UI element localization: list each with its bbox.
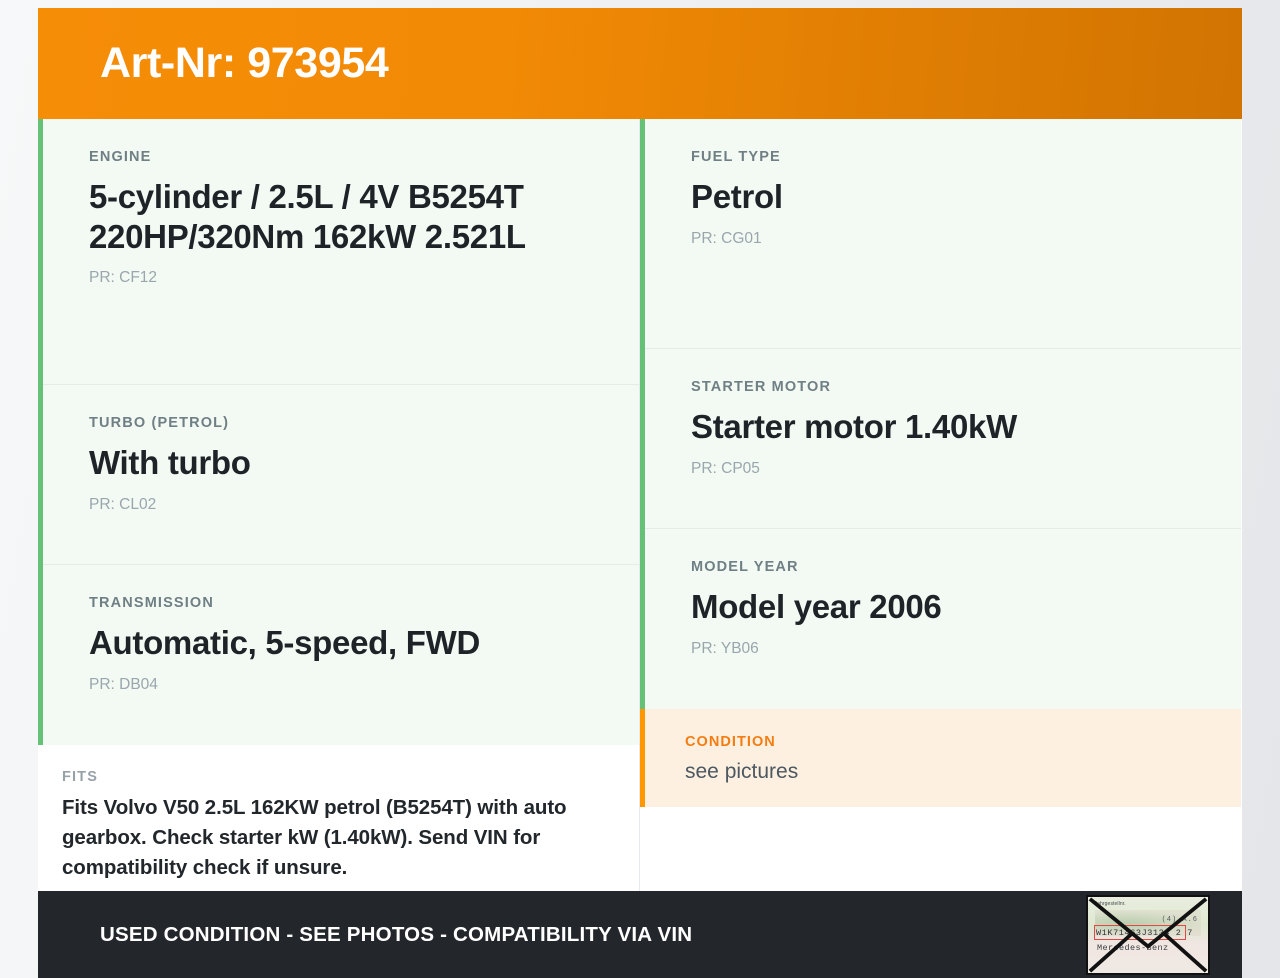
spec-value-turbo: With turbo bbox=[89, 443, 593, 482]
spec-value-engine: 5-cylinder / 2.5L / 4V B5254T 220HP/320N… bbox=[89, 177, 593, 256]
spec-block-starter-motor: STARTER MOTOR Starter motor 1.40kW PR: C… bbox=[645, 349, 1241, 529]
spec-value-model-year: Model year 2006 bbox=[691, 587, 1195, 626]
spec-value-transmission: Automatic, 5-speed, FWD bbox=[89, 623, 593, 662]
condition-block: CONDITION see pictures bbox=[640, 709, 1241, 807]
spec-label-model-year: MODEL YEAR bbox=[691, 559, 1195, 576]
envelope-icon bbox=[1088, 897, 1208, 973]
left-column: ENGINE 5-cylinder / 2.5L / 4V B5254T 220… bbox=[38, 119, 640, 891]
spec-label-fuel-type: FUEL TYPE bbox=[691, 149, 1195, 166]
spec-block-fuel-type: FUEL TYPE Petrol PR: CG01 bbox=[645, 119, 1241, 349]
spec-value-fuel-type: Petrol bbox=[691, 177, 1195, 216]
page-root: Art-Nr: 973954 ENGINE 5-cylinder / 2.5L … bbox=[0, 0, 1280, 978]
footer-bar: USED CONDITION - SEE PHOTOS - COMPATIBIL… bbox=[38, 891, 1242, 978]
spec-value-starter-motor: Starter motor 1.40kW bbox=[691, 407, 1195, 446]
spec-pr-fuel-type: PR: CG01 bbox=[691, 230, 1195, 249]
condition-value: see pictures bbox=[685, 759, 1195, 784]
page-title: Art-Nr: 973954 bbox=[38, 42, 388, 85]
fits-block: FITS Fits Volvo V50 2.5L 162KW petrol (B… bbox=[38, 745, 639, 909]
spec-block-model-year: MODEL YEAR Model year 2006 PR: YB06 bbox=[645, 529, 1241, 709]
spec-label-engine: ENGINE bbox=[89, 149, 593, 166]
right-column-filler bbox=[640, 807, 1241, 891]
condition-label: CONDITION bbox=[685, 734, 1195, 751]
spec-label-transmission: TRANSMISSION bbox=[89, 595, 593, 612]
footer-notice: USED CONDITION - SEE PHOTOS - COMPATIBIL… bbox=[100, 923, 692, 947]
vin-document-thumbnail[interactable]: Fahrgestellnr. (4) A.6 W1K71463J3134 2 7… bbox=[1086, 895, 1210, 975]
header-bar: Art-Nr: 973954 bbox=[38, 8, 1242, 119]
spec-columns: ENGINE 5-cylinder / 2.5L / 4V B5254T 220… bbox=[38, 119, 1242, 891]
spec-pr-turbo: PR: CL02 bbox=[89, 496, 593, 515]
spec-pr-model-year: PR: YB06 bbox=[691, 640, 1195, 659]
right-column: FUEL TYPE Petrol PR: CG01 STARTER MOTOR … bbox=[640, 119, 1241, 891]
fits-text: Fits Volvo V50 2.5L 162KW petrol (B5254T… bbox=[62, 793, 577, 882]
spec-label-starter-motor: STARTER MOTOR bbox=[691, 379, 1195, 396]
fits-label: FITS bbox=[62, 769, 577, 786]
spec-block-turbo: TURBO (PETROL) With turbo PR: CL02 bbox=[43, 385, 639, 565]
right-spec-group: FUEL TYPE Petrol PR: CG01 STARTER MOTOR … bbox=[640, 119, 1241, 709]
spec-label-turbo: TURBO (PETROL) bbox=[89, 415, 593, 432]
spec-pr-transmission: PR: DB04 bbox=[89, 676, 593, 695]
spec-pr-starter-motor: PR: CP05 bbox=[691, 460, 1195, 479]
left-spec-group: ENGINE 5-cylinder / 2.5L / 4V B5254T 220… bbox=[38, 119, 639, 745]
spec-pr-engine: PR: CF12 bbox=[89, 269, 593, 288]
listing-card: Art-Nr: 973954 ENGINE 5-cylinder / 2.5L … bbox=[38, 8, 1242, 978]
spec-block-engine: ENGINE 5-cylinder / 2.5L / 4V B5254T 220… bbox=[43, 119, 639, 385]
spec-block-transmission: TRANSMISSION Automatic, 5-speed, FWD PR:… bbox=[43, 565, 639, 745]
